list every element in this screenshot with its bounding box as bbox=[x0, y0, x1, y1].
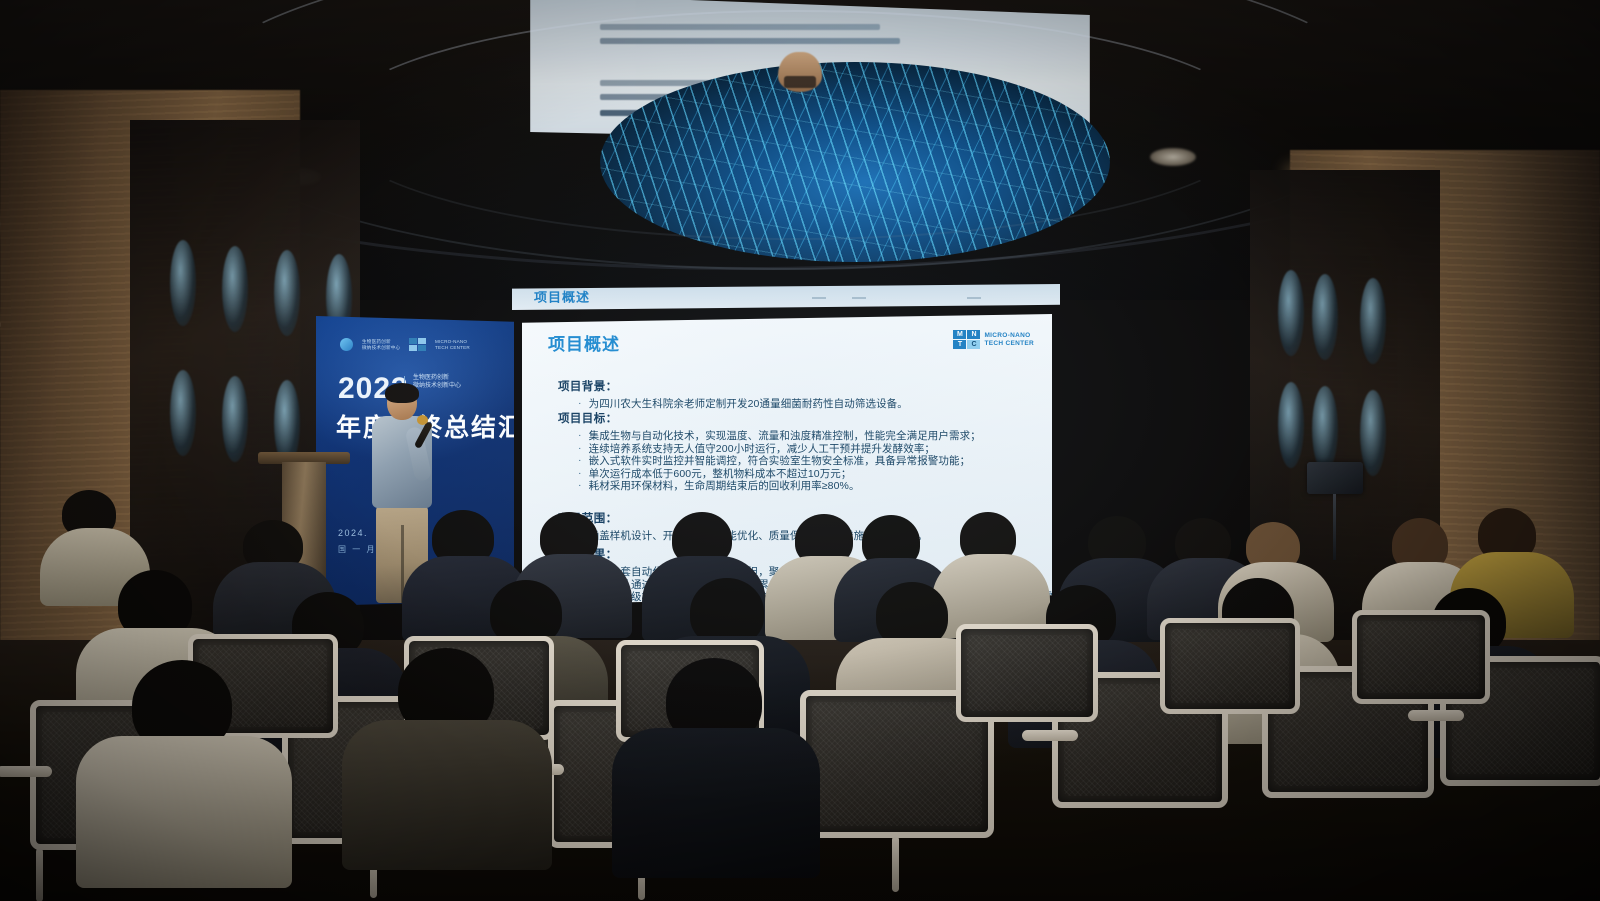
banner-logo-text: MICRO-NANO TECH CENTER bbox=[435, 339, 470, 350]
slide-logo-icon: M N T C bbox=[953, 330, 980, 349]
section-goals-title: 项目目标： bbox=[558, 410, 981, 426]
circuit-trace-pattern bbox=[600, 62, 1110, 262]
chair[interactable] bbox=[1160, 618, 1300, 714]
auditorium-scene: 生物医药创新 微纳技术创新中心 MICRO-NANO TECH CENTER 2… bbox=[0, 0, 1600, 901]
screen-top-strip: 项目概述 bbox=[512, 284, 1060, 310]
bullet-item: · 为四川农大生科院余老师定制开发20通量细菌耐药性自动筛选设备。 bbox=[558, 398, 908, 411]
section-goals: 项目目标： · 集成生物与自动化技术，实现温度、流量和浊度精准控制，性能完全满足… bbox=[558, 410, 981, 493]
slide-logo: M N T C MICRO-NANO TECH CENTER bbox=[953, 330, 1034, 349]
bullet-dot-icon: · bbox=[578, 479, 582, 492]
microphone-head bbox=[417, 415, 428, 425]
bullet-text: 单次运行成本低于600元，整机物料成本不超过10万元； bbox=[589, 468, 852, 481]
bullet-dot-icon: · bbox=[578, 397, 582, 410]
banner-logo-group: 生物医药创新 微纳技术创新中心 MICRO-NANO TECH CENTER bbox=[340, 338, 470, 351]
circuit-globe-reflection bbox=[600, 62, 1110, 262]
section-background-title: 项目背景： bbox=[558, 378, 908, 394]
chair[interactable] bbox=[956, 624, 1098, 722]
strip-title: 项目概述 bbox=[534, 287, 590, 305]
loudspeaker bbox=[1307, 462, 1363, 494]
bullet-text: 为四川农大生科院余老师定制开发20通量细菌耐药性自动筛选设备。 bbox=[589, 398, 908, 411]
banner-org-text: 生物医药创新 微纳技术创新中心 bbox=[362, 339, 400, 350]
bullet-dot-icon: · bbox=[578, 454, 582, 467]
slide-logo-line2: TECH CENTER bbox=[984, 340, 1034, 348]
bullet-item: · 嵌入式软件实时监控并智能调控，符合实验室生物安全标准，具备异常报警功能； bbox=[558, 455, 981, 468]
bullet-text: 连续培养系统支持无人值守200小时运行，减少人工干预并提升发酵效率； bbox=[589, 443, 935, 456]
bullet-text: 耗材采用环保材料，生命周期结束后的回收利用率≥80%。 bbox=[589, 480, 860, 493]
slide-logo-text: MICRO-NANO TECH CENTER bbox=[984, 332, 1034, 348]
bullet-dot-icon: · bbox=[578, 429, 582, 442]
micro-nano-logo-icon bbox=[409, 338, 426, 351]
bullet-dot-icon: · bbox=[578, 467, 582, 480]
org-logo-icon bbox=[340, 338, 353, 351]
bullet-item: · 集成生物与自动化技术，实现温度、流量和浊度精准控制，性能完全满足用户需求； bbox=[558, 430, 981, 443]
ceiling-spot-2 bbox=[1150, 148, 1196, 166]
bullet-text: 集成生物与自动化技术，实现温度、流量和浊度精准控制，性能完全满足用户需求； bbox=[589, 430, 981, 443]
reflected-head bbox=[778, 52, 822, 92]
bullet-text: 嵌入式软件实时监控并智能调控，符合实验室生物安全标准，具备异常报警功能； bbox=[589, 455, 971, 468]
presenter-hair bbox=[385, 383, 419, 403]
bullet-item: · 连续培养系统支持无人值守200小时运行，减少人工干预并提升发酵效率； bbox=[558, 443, 981, 456]
banner-logo-line2: TECH CENTER bbox=[435, 345, 470, 350]
slide-logo-line1: MICRO-NANO bbox=[984, 332, 1034, 340]
bullet-dot-icon: · bbox=[578, 442, 582, 455]
banner-org-line2: 微纳技术创新中心 bbox=[362, 345, 400, 350]
bullet-item: · 耗材采用环保材料，生命周期结束后的回收利用率≥80%。 bbox=[558, 480, 981, 493]
bullet-item: · 单次运行成本低于600元，整机物料成本不超过10万元； bbox=[558, 468, 981, 481]
banner-logo-line1: MICRO-NANO bbox=[435, 339, 470, 344]
slide-heading: 项目概述 bbox=[548, 330, 620, 355]
speaker-stand bbox=[1333, 494, 1336, 560]
chair[interactable] bbox=[1352, 610, 1490, 704]
banner-subtitle-line1: 生物医药创新 bbox=[413, 374, 461, 382]
section-background: 项目背景： · 为四川农大生科院余老师定制开发20通量细菌耐药性自动筛选设备。 bbox=[558, 378, 908, 411]
